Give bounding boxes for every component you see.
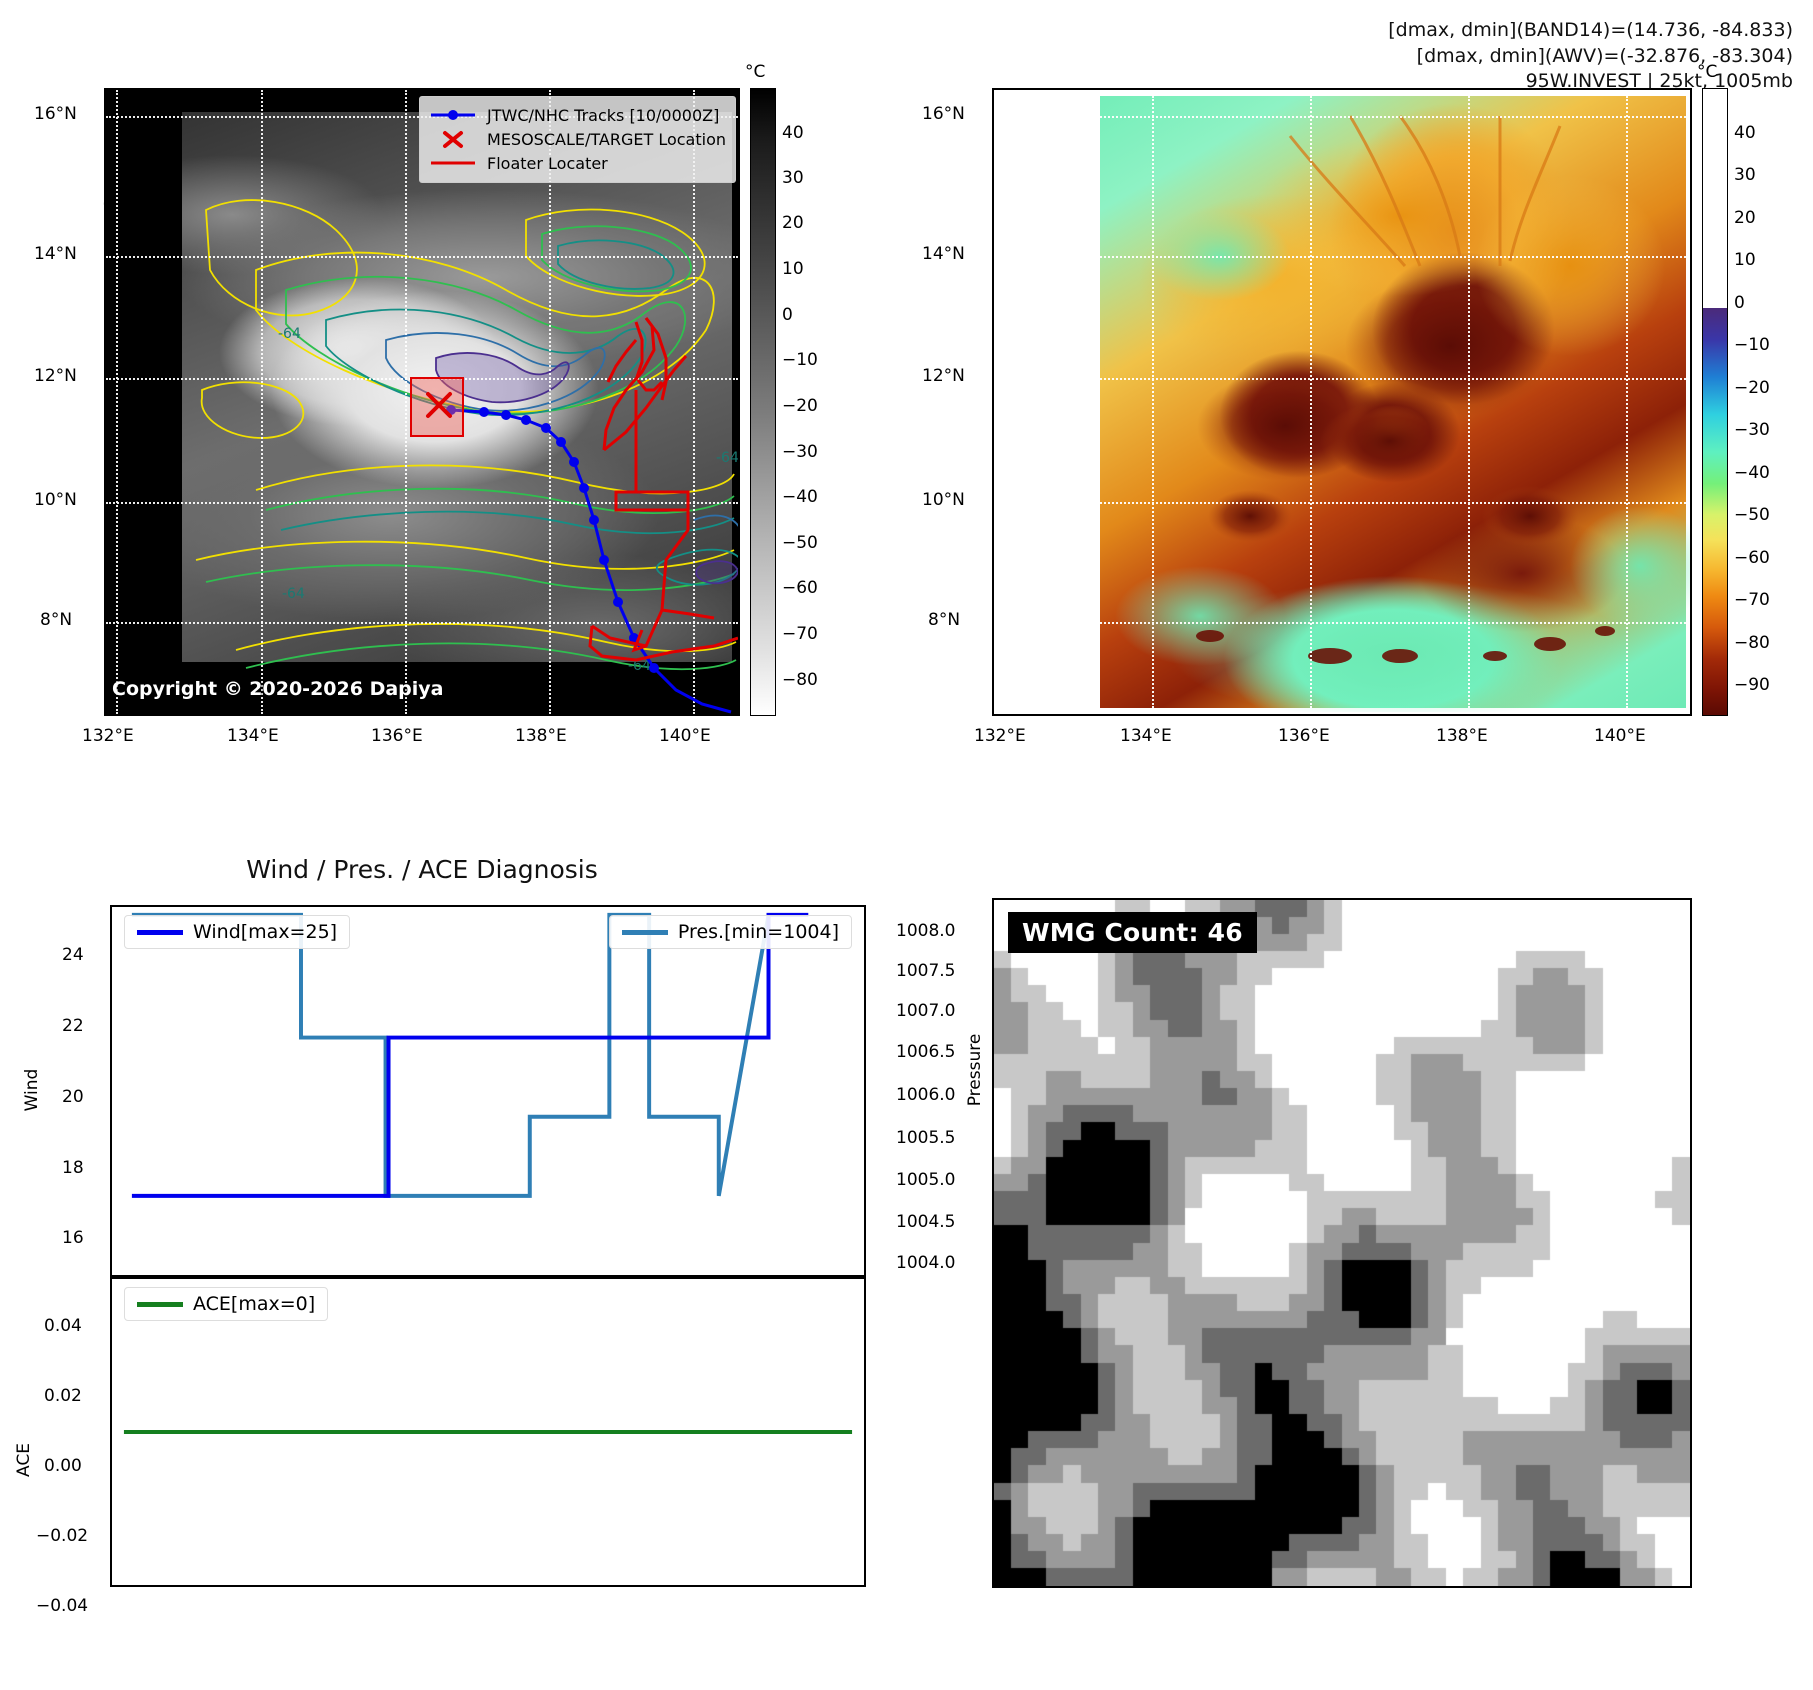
ir-cb-tick-30: 30 bbox=[782, 168, 804, 188]
dashboard-root: HIMAWARI-9 BAND14-DIAS TARGET AREA Time:… bbox=[0, 0, 1813, 1690]
ace-axis-label: ACE bbox=[14, 1430, 34, 1490]
ir-cb-tick-m70: −70 bbox=[782, 624, 818, 644]
ace-tick-m004: −0.04 bbox=[36, 1596, 88, 1616]
ir-lon-tick-140E: 140°E bbox=[659, 726, 711, 746]
ir-cb-tick-10: 10 bbox=[782, 259, 804, 279]
legend-item-floater: Floater Locater bbox=[429, 151, 726, 175]
pres-tick-1006-5: 1006.5 bbox=[896, 1042, 955, 1062]
awv-graticule-lon-136E bbox=[1310, 96, 1312, 708]
dmax-dmin-awv: [dmax, dmin](AWV)=(-32.876, -83.304) bbox=[1388, 44, 1793, 70]
wmg-mosaic-image bbox=[994, 900, 1690, 1586]
ir-cb-tick-m60: −60 bbox=[782, 578, 818, 598]
awv-lat-tick-14N: 14°N bbox=[922, 244, 965, 264]
awv-graticule-lat-14N bbox=[1100, 256, 1686, 258]
awv-graticule-lat-10N bbox=[1100, 502, 1686, 504]
pressure-axis-label: Pressure bbox=[965, 1025, 985, 1115]
pres-tick-1004-5: 1004.5 bbox=[896, 1212, 955, 1232]
pres-tick-1005-5: 1005.5 bbox=[896, 1128, 955, 1148]
pres-tick-1008-0: 1008.0 bbox=[896, 921, 955, 941]
ir-cb-tick-m40: −40 bbox=[782, 487, 818, 507]
pres-tick-1006-0: 1006.0 bbox=[896, 1085, 955, 1105]
wind-tick-22: 22 bbox=[62, 1016, 84, 1036]
wind-pressure-plot-area bbox=[112, 907, 864, 1275]
awv-lon-tick-140E: 140°E bbox=[1594, 726, 1646, 746]
awv-cb-tick-40: 40 bbox=[1734, 123, 1756, 143]
awv-cb-tick-30: 30 bbox=[1734, 165, 1756, 185]
awv-lat-tick-16N: 16°N bbox=[922, 104, 965, 124]
ace-plot-area bbox=[112, 1279, 864, 1585]
solid-line-icon bbox=[429, 158, 477, 168]
awv-cb-tick-m30: −30 bbox=[1734, 420, 1770, 440]
legend-label-tracks: JTWC/NHC Tracks [10/0000Z] bbox=[487, 106, 719, 125]
wmg-count-badge: WMG Count: 46 bbox=[1008, 912, 1257, 953]
copyright-notice: Copyright © 2020-2026 Dapiya bbox=[112, 678, 443, 700]
ace-legend-line-icon bbox=[137, 1302, 183, 1307]
legend-item-tracks: JTWC/NHC Tracks [10/0000Z] bbox=[429, 103, 726, 127]
pressure-legend[interactable]: Pres.[min=1004] bbox=[609, 915, 852, 949]
legend-label-mesoscale: MESOSCALE/TARGET Location bbox=[487, 130, 726, 149]
awv-graticule-lat-8N bbox=[1100, 622, 1686, 624]
pressure-series-line bbox=[132, 915, 769, 1196]
pres-tick-1005-0: 1005.0 bbox=[896, 1170, 955, 1190]
awv-lat-tick-8N: 8°N bbox=[928, 610, 960, 630]
awv-lon-tick-136E: 136°E bbox=[1278, 726, 1330, 746]
awv-cb-tick-m60: −60 bbox=[1734, 548, 1770, 568]
legend-label-floater: Floater Locater bbox=[487, 154, 608, 173]
ir-lat-tick-14N: 14°N bbox=[34, 244, 77, 264]
awv-colorbar[interactable] bbox=[1702, 88, 1728, 716]
wind-tick-20: 20 bbox=[62, 1087, 84, 1107]
ir-cb-tick-m30: −30 bbox=[782, 442, 818, 462]
awv-cb-tick-20: 20 bbox=[1734, 208, 1756, 228]
awv-cb-tick-m10: −10 bbox=[1734, 335, 1770, 355]
floater-locater-lines bbox=[590, 318, 738, 660]
track-overlay bbox=[106, 90, 740, 716]
ace-tick-000: 0.00 bbox=[44, 1456, 82, 1476]
awv-lat-tick-12N: 12°N bbox=[922, 366, 965, 386]
awv-cb-tick-m40: −40 bbox=[1734, 463, 1770, 483]
ir-lat-tick-16N: 16°N bbox=[34, 104, 77, 124]
wind-tick-16: 16 bbox=[62, 1228, 84, 1248]
pres-tick-1007-5: 1007.5 bbox=[896, 961, 955, 981]
wind-pressure-chart[interactable]: Wind[max=25] Pres.[min=1004] bbox=[110, 905, 866, 1277]
awv-graticule-lon-134E bbox=[1152, 96, 1154, 708]
header-info: [dmax, dmin](BAND14)=(14.736, -84.833) [… bbox=[1388, 18, 1793, 95]
awv-satellite-panel[interactable] bbox=[992, 88, 1692, 716]
wind-legend-line-icon bbox=[137, 930, 183, 935]
awv-cloud-texture bbox=[1100, 96, 1690, 712]
ace-tick-002: 0.02 bbox=[44, 1386, 82, 1406]
awv-graticule-lon-140E bbox=[1626, 96, 1628, 708]
wind-tick-24: 24 bbox=[62, 945, 84, 965]
ir-cb-tick-0: 0 bbox=[782, 305, 793, 325]
awv-cb-tick-m90: −90 bbox=[1734, 675, 1770, 695]
wind-legend-label: Wind[max=25] bbox=[193, 921, 337, 943]
awv-lon-tick-134E: 134°E bbox=[1120, 726, 1172, 746]
ir-cb-tick-20: 20 bbox=[782, 213, 804, 233]
pres-tick-1004-0: 1004.0 bbox=[896, 1253, 955, 1273]
awv-graticule-lon-138E bbox=[1468, 96, 1470, 708]
ir-legend[interactable]: JTWC/NHC Tracks [10/0000Z] MESOSCALE/TAR… bbox=[419, 96, 736, 183]
awv-cb-tick-10: 10 bbox=[1734, 250, 1756, 270]
pressure-legend-line-icon bbox=[622, 930, 668, 935]
awv-graticule-lon-132E bbox=[1006, 96, 1008, 708]
wind-axis-label: Wind bbox=[22, 1060, 42, 1120]
wmg-panel[interactable]: WMG Count: 46 bbox=[992, 898, 1692, 1588]
ace-tick-m002: −0.02 bbox=[36, 1526, 88, 1546]
awv-cb-tick-m20: −20 bbox=[1734, 378, 1770, 398]
ir-lon-tick-134E: 134°E bbox=[227, 726, 279, 746]
ir-lon-tick-132E: 132°E bbox=[82, 726, 134, 746]
x-marker-icon bbox=[429, 129, 477, 149]
awv-colorbar-unit: °C bbox=[1697, 62, 1717, 82]
ir-lat-tick-10N: 10°N bbox=[34, 490, 77, 510]
dmax-dmin-band14: [dmax, dmin](BAND14)=(14.736, -84.833) bbox=[1388, 18, 1793, 44]
legend-item-mesoscale: MESOSCALE/TARGET Location bbox=[429, 127, 726, 151]
awv-lon-tick-138E: 138°E bbox=[1436, 726, 1488, 746]
awv-graticule-lat-12N bbox=[1100, 378, 1686, 380]
awv-cb-tick-m70: −70 bbox=[1734, 590, 1770, 610]
ir-colorbar[interactable] bbox=[750, 88, 776, 716]
ace-tick-004: 0.04 bbox=[44, 1316, 82, 1336]
ir-lon-tick-138E: 138°E bbox=[515, 726, 567, 746]
pres-tick-1007-0: 1007.0 bbox=[896, 1001, 955, 1021]
awv-lon-tick-132E: 132°E bbox=[974, 726, 1026, 746]
ir-colorbar-unit: °C bbox=[745, 62, 765, 82]
ir-cb-tick-m50: −50 bbox=[782, 533, 818, 553]
wind-tick-18: 18 bbox=[62, 1158, 84, 1178]
ir-cb-tick-m10: −10 bbox=[782, 350, 818, 370]
jtwc-track-points bbox=[446, 405, 659, 673]
ir-cb-tick-40: 40 bbox=[782, 123, 804, 143]
ace-legend-label: ACE[max=0] bbox=[193, 1293, 315, 1315]
awv-cb-tick-0: 0 bbox=[1734, 293, 1745, 313]
awv-cb-tick-m80: −80 bbox=[1734, 633, 1770, 653]
wind-series-line bbox=[132, 915, 808, 1196]
jtwc-track-line bbox=[451, 410, 731, 712]
ir-lon-tick-136E: 136°E bbox=[371, 726, 423, 746]
ace-legend[interactable]: ACE[max=0] bbox=[124, 1287, 328, 1321]
diagnosis-title: Wind / Pres. / ACE Diagnosis bbox=[104, 855, 740, 884]
awv-graticule-lat-16N bbox=[1100, 116, 1686, 118]
awv-lat-tick-10N: 10°N bbox=[922, 490, 965, 510]
ir-lat-tick-12N: 12°N bbox=[34, 366, 77, 386]
pressure-legend-label: Pres.[min=1004] bbox=[678, 921, 839, 943]
ace-chart[interactable]: ACE[max=0] bbox=[110, 1277, 866, 1587]
track-line-marker-icon bbox=[429, 108, 477, 122]
ir-satellite-panel[interactable]: -64 -64 -64 -64 bbox=[104, 88, 740, 716]
awv-cb-tick-m50: −50 bbox=[1734, 505, 1770, 525]
wind-legend[interactable]: Wind[max=25] bbox=[124, 915, 350, 949]
ir-lat-tick-8N: 8°N bbox=[40, 610, 72, 630]
ir-cb-tick-m80: −80 bbox=[782, 670, 818, 690]
ir-cb-tick-m20: −20 bbox=[782, 396, 818, 416]
